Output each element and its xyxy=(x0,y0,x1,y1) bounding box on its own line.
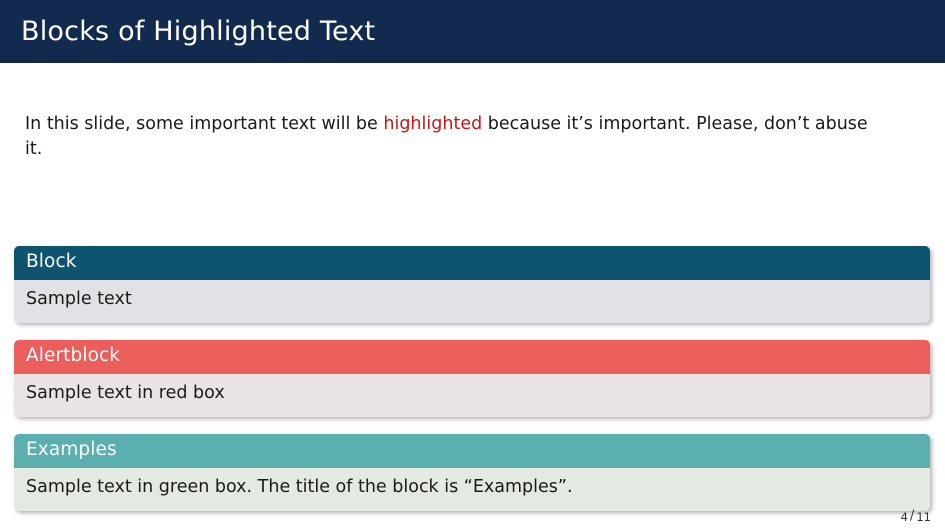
block-example-body: Sample text in green box. The title of t… xyxy=(14,468,930,512)
block-alert: Alertblock Sample text in red box xyxy=(14,340,930,417)
slide-canvas: Blocks of Highlighted Text In this slide… xyxy=(0,0,945,532)
block-standard-body: Sample text xyxy=(14,280,930,324)
block-standard-title: Block xyxy=(14,246,930,280)
block-standard: Block Sample text xyxy=(14,246,930,323)
page-separator: / xyxy=(909,509,915,524)
block-alert-body: Sample text in red box xyxy=(14,374,930,418)
page-counter: 4 / 11 xyxy=(901,509,931,524)
slide-title: Blocks of Highlighted Text xyxy=(0,18,375,45)
page-current: 4 xyxy=(901,510,908,524)
highlighted-text: highlighted xyxy=(383,114,482,134)
slide-content: In this slide, some important text will … xyxy=(0,63,945,162)
intro-paragraph: In this slide, some important text will … xyxy=(0,63,945,162)
slide-title-bar: Blocks of Highlighted Text xyxy=(0,0,945,63)
block-example-title: Examples xyxy=(14,434,930,468)
paragraph-text-before: In this slide, some important text will … xyxy=(25,114,383,134)
page-total: 11 xyxy=(916,510,931,524)
block-example: Examples Sample text in green box. The t… xyxy=(14,434,930,511)
block-alert-title: Alertblock xyxy=(14,340,930,374)
